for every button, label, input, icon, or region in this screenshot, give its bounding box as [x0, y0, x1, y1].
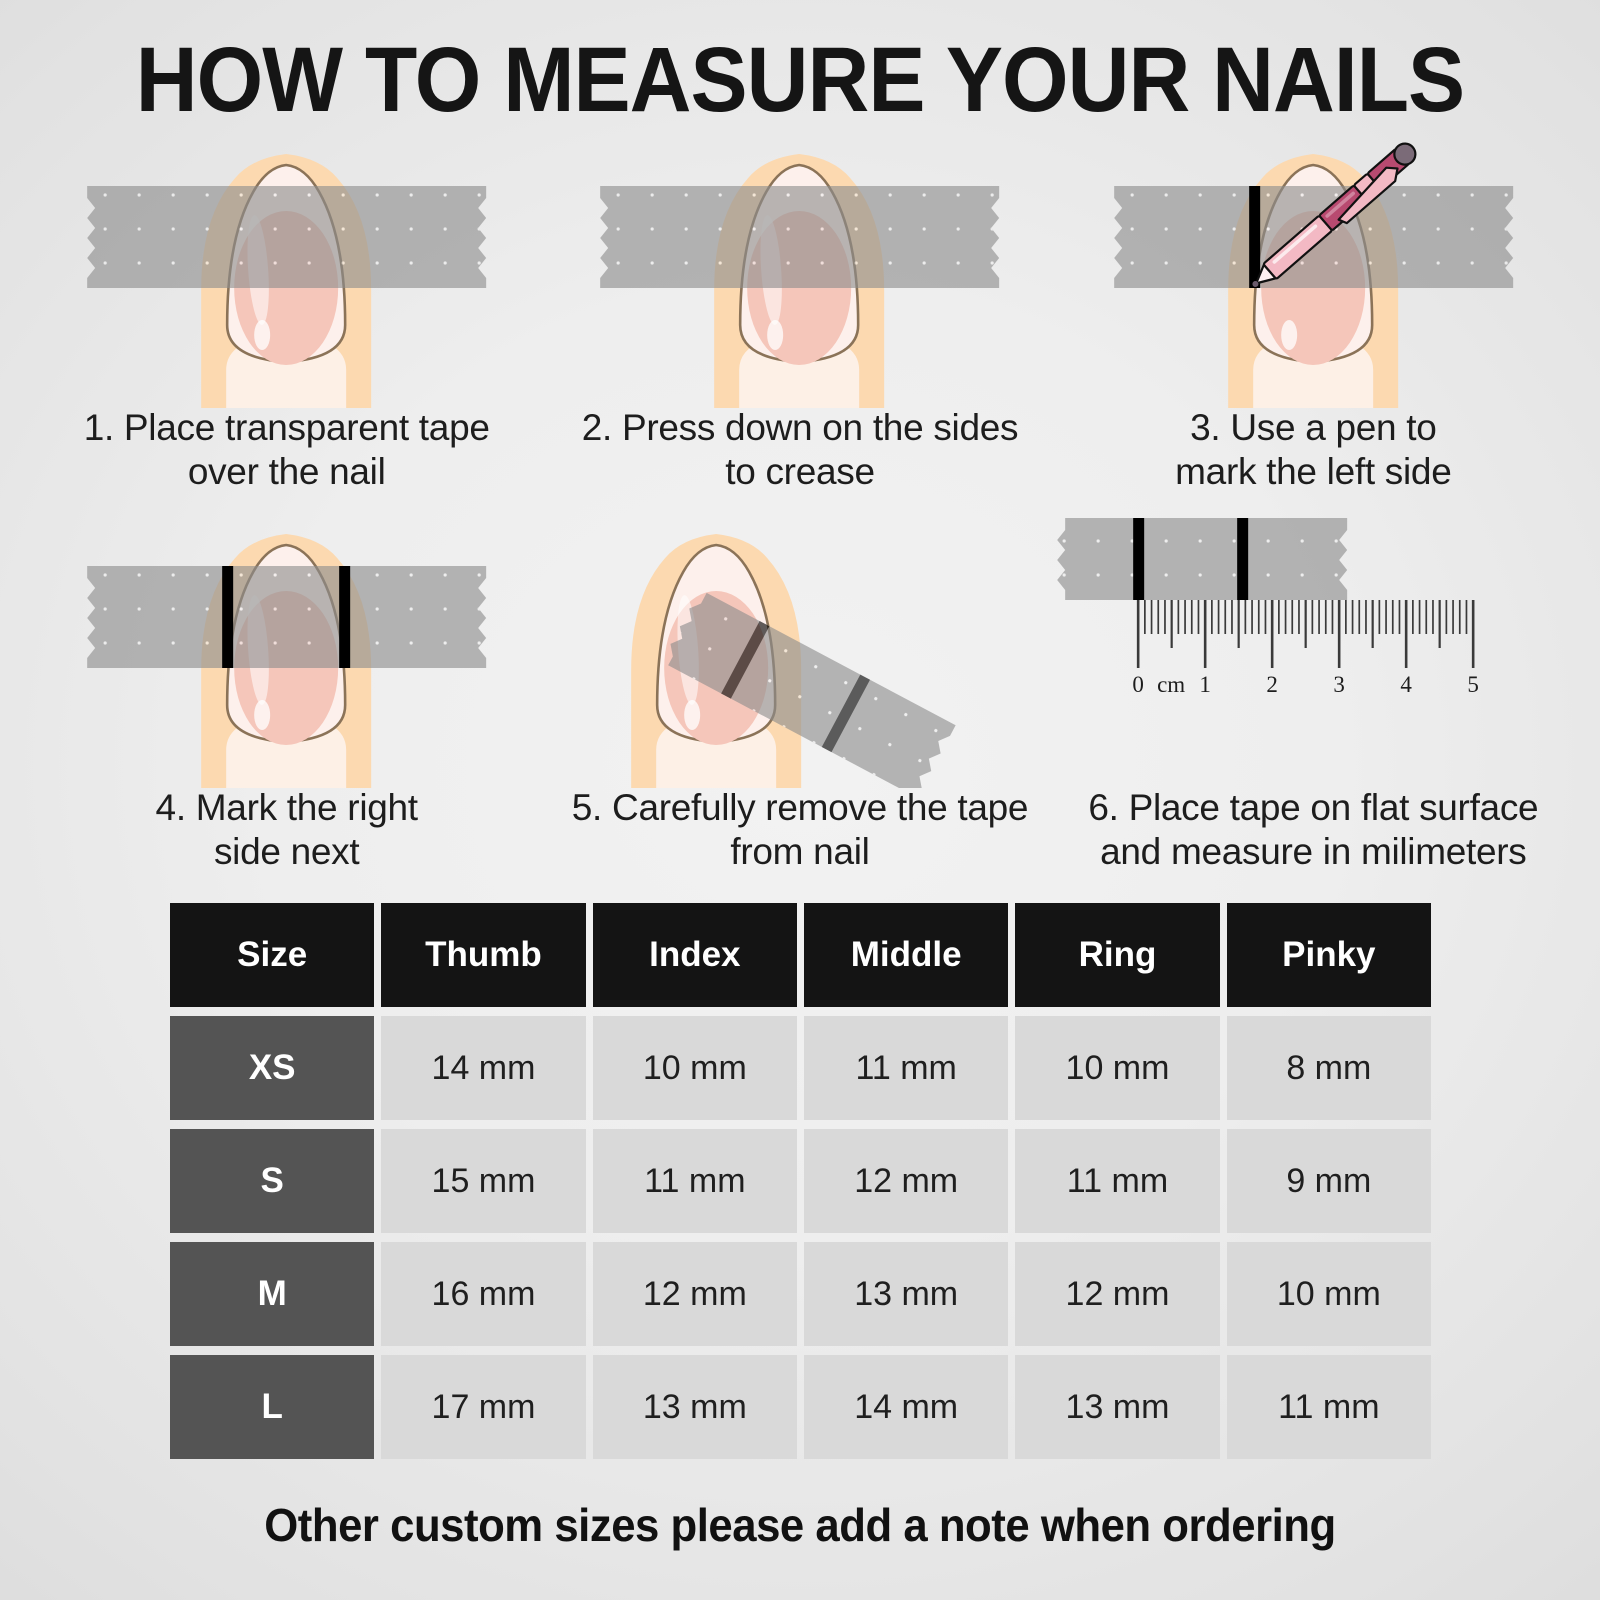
step-5-caption: 5. Carefully remove the tape from nail: [549, 786, 1050, 875]
cell-l-index: 13 mm: [593, 1355, 797, 1459]
table-row: S: [170, 1129, 381, 1242]
table-header-cell: Middle: [804, 903, 1015, 1016]
table-cell: 12 mm: [593, 1242, 804, 1355]
ruler-tick-5: 5: [1467, 672, 1479, 697]
cell-s-ring: 11 mm: [1015, 1129, 1219, 1233]
left-mark: [1249, 186, 1260, 288]
table-cell: 12 mm: [1015, 1242, 1226, 1355]
step-4-illustration: [30, 500, 543, 788]
step-6-illustration: 0 cm 1 2 3 4 5: [1057, 500, 1570, 788]
header-ring: Ring: [1015, 903, 1219, 1007]
table-header-cell: Index: [593, 903, 804, 1016]
cell-s-thumb: 15 mm: [381, 1129, 585, 1233]
step-2-caption: 2. Press down on the sides to crease: [549, 406, 1050, 495]
table-cell: 14 mm: [804, 1355, 1015, 1468]
size-label-m: M: [170, 1242, 374, 1346]
table-cell: 11 mm: [593, 1129, 804, 1242]
table-header-cell: Ring: [1015, 903, 1226, 1016]
header-size: Size: [170, 903, 374, 1007]
cell-l-thumb: 17 mm: [381, 1355, 585, 1459]
table-cell: 11 mm: [1015, 1129, 1226, 1242]
table-cell: 17 mm: [381, 1355, 592, 1468]
table-cell: 13 mm: [804, 1242, 1015, 1355]
table-row: M: [170, 1242, 381, 1355]
size-label-s: S: [170, 1129, 374, 1233]
cell-m-thumb: 16 mm: [381, 1242, 585, 1346]
tape-strip-flat: [1057, 518, 1347, 600]
table-cell: 10 mm: [593, 1016, 804, 1129]
table-cell: 12 mm: [804, 1129, 1015, 1242]
footer-note: Other custom sizes please add a note whe…: [40, 1498, 1560, 1552]
step-2-illustration: [543, 120, 1056, 408]
table-cell: 11 mm: [804, 1016, 1015, 1129]
table-cell: 13 mm: [1015, 1355, 1226, 1468]
cell-xs-ring: 10 mm: [1015, 1016, 1219, 1120]
table-cell: 11 mm: [1227, 1355, 1438, 1468]
cell-xs-thumb: 14 mm: [381, 1016, 585, 1120]
cell-m-index: 12 mm: [593, 1242, 797, 1346]
step-1-caption: 1. Place transparent tape over the nail: [36, 406, 537, 495]
table-row: L: [170, 1355, 381, 1468]
tape-strip: [87, 566, 486, 668]
left-mark: [222, 566, 233, 668]
tape-strip: [87, 186, 486, 288]
cell-l-middle: 14 mm: [804, 1355, 1008, 1459]
step-2: 2. Press down on the sides to crease: [543, 120, 1056, 500]
table-cell: 9 mm: [1227, 1129, 1438, 1242]
table-header-cell: Thumb: [381, 903, 592, 1016]
cell-s-middle: 12 mm: [804, 1129, 1008, 1233]
cell-m-middle: 13 mm: [804, 1242, 1008, 1346]
page-title: HOW TO MEASURE YOUR NAILS: [56, 28, 1544, 133]
cell-l-pinky: 11 mm: [1227, 1355, 1431, 1459]
cell-xs-pinky: 8 mm: [1227, 1016, 1431, 1120]
table-row: XS: [170, 1016, 381, 1129]
table-header-cell: Pinky: [1227, 903, 1438, 1016]
header-thumb: Thumb: [381, 903, 585, 1007]
step-5: 5. Carefully remove the tape from nail: [543, 500, 1056, 880]
cell-xs-middle: 11 mm: [804, 1016, 1008, 1120]
step-3-caption: 3. Use a pen to mark the left side: [1063, 406, 1564, 495]
step-6-caption: 6. Place tape on flat surface and measur…: [1063, 786, 1564, 875]
steps-grid: 1. Place transparent tape over the nail: [30, 120, 1570, 880]
right-mark: [1237, 518, 1248, 600]
cell-xs-index: 10 mm: [593, 1016, 797, 1120]
table-cell: 10 mm: [1227, 1242, 1438, 1355]
right-mark: [339, 566, 350, 668]
header-index: Index: [593, 903, 797, 1007]
cell-m-pinky: 10 mm: [1227, 1242, 1431, 1346]
table-cell: 13 mm: [593, 1355, 804, 1468]
table-header-cell: Size: [170, 903, 381, 1016]
step-5-illustration: [543, 500, 1056, 788]
cell-s-pinky: 9 mm: [1227, 1129, 1431, 1233]
step-4-caption: 4. Mark the right side next: [36, 786, 537, 875]
step-3-illustration: [1057, 120, 1570, 408]
table-cell: 15 mm: [381, 1129, 592, 1242]
cell-s-index: 11 mm: [593, 1129, 797, 1233]
table-cell: 10 mm: [1015, 1016, 1226, 1129]
ruler-unit-label: cm: [1157, 672, 1185, 697]
size-label-l: L: [170, 1355, 374, 1459]
cell-m-ring: 12 mm: [1015, 1242, 1219, 1346]
cell-l-ring: 13 mm: [1015, 1355, 1219, 1459]
size-table: Size Thumb Index Middle Ring Pinky XS 14…: [170, 903, 1438, 1468]
tape-strip: [600, 186, 999, 288]
header-middle: Middle: [804, 903, 1008, 1007]
step-3: 3. Use a pen to mark the left side: [1057, 120, 1570, 500]
ruler-tick-1: 1: [1199, 672, 1211, 697]
ruler: [1138, 600, 1473, 668]
table-cell: 14 mm: [381, 1016, 592, 1129]
header-pinky: Pinky: [1227, 903, 1431, 1007]
size-label-xs: XS: [170, 1016, 374, 1120]
step-4: 4. Mark the right side next: [30, 500, 543, 880]
step-6: 0 cm 1 2 3 4 5 6. Place tape on flat sur…: [1057, 500, 1570, 880]
ruler-tick-2: 2: [1266, 672, 1278, 697]
ruler-tick-0: 0: [1132, 672, 1144, 697]
table-cell: 16 mm: [381, 1242, 592, 1355]
ruler-tick-3: 3: [1333, 672, 1345, 697]
table-cell: 8 mm: [1227, 1016, 1438, 1129]
step-1: 1. Place transparent tape over the nail: [30, 120, 543, 500]
ruler-tick-4: 4: [1400, 672, 1412, 697]
step-1-illustration: [30, 120, 543, 408]
left-mark: [1133, 518, 1144, 600]
